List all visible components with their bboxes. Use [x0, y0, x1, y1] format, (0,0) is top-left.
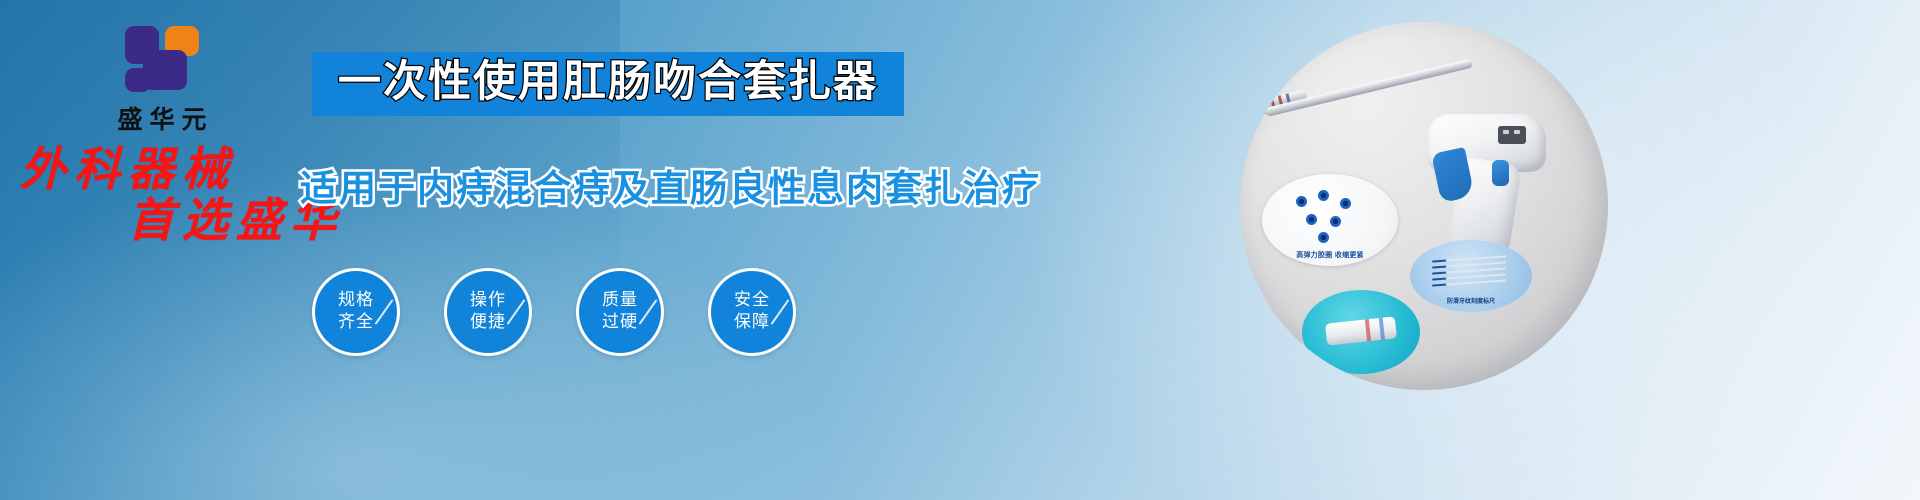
feature-label-line2: 保障 [734, 312, 770, 334]
inset-rubber-bands: 高弹力胶圈 收缩更紧 [1262, 174, 1398, 266]
feature-badge-list: 规格 齐全 操作 便捷 质量 过硬 安全 保障 [312, 268, 796, 356]
logo-mark-icon [115, 24, 209, 94]
feature-label-line1: 质量 [602, 290, 638, 312]
slogan-line-1: 外科器械 [20, 142, 236, 196]
feature-label-line2: 过硬 [602, 312, 638, 334]
device-keypad-icon [1498, 126, 1526, 144]
brand-name: 盛华元 [62, 100, 262, 136]
feature-badge-quality[interactable]: 质量 过硬 [576, 268, 664, 356]
inset-applicator [1302, 290, 1420, 374]
product-photo: 高弹力胶圈 收缩更紧 防滑牙纹刻度标尺 [1240, 22, 1608, 390]
feature-label-line1: 安全 [734, 290, 770, 312]
feature-label-line1: 规格 [338, 290, 374, 312]
headline-band: 一次性使用肛肠吻合套扎器 [312, 52, 904, 116]
feature-label-line2: 便捷 [470, 312, 506, 334]
page-subtitle: 适用于内痔混合痔及直肠良性息肉套扎治疗 [300, 158, 1041, 212]
inset-bands-caption: 高弹力胶圈 收缩更紧 [1262, 250, 1398, 260]
inset-needles: 防滑牙纹刻度标尺 [1410, 240, 1532, 312]
feature-label-line1: 操作 [470, 290, 506, 312]
feature-badge-specifications[interactable]: 规格 齐全 [312, 268, 400, 356]
feature-badge-safety[interactable]: 安全 保障 [708, 268, 796, 356]
promo-banner: 盛华元 外科器械 首选盛华 一次性使用肛肠吻合套扎器 适用于内痔混合痔及直肠良性… [0, 0, 1920, 500]
page-title: 一次性使用肛肠吻合套扎器 [338, 59, 878, 105]
brand-logo[interactable]: 盛华元 [62, 24, 262, 136]
device-shaft-icon [1265, 59, 1473, 117]
feature-label-line2: 齐全 [338, 312, 374, 334]
inset-needles-caption: 防滑牙纹刻度标尺 [1410, 296, 1532, 305]
feature-badge-operation[interactable]: 操作 便捷 [444, 268, 532, 356]
applicator-icon [1325, 316, 1397, 345]
device-button-icon [1492, 160, 1509, 186]
